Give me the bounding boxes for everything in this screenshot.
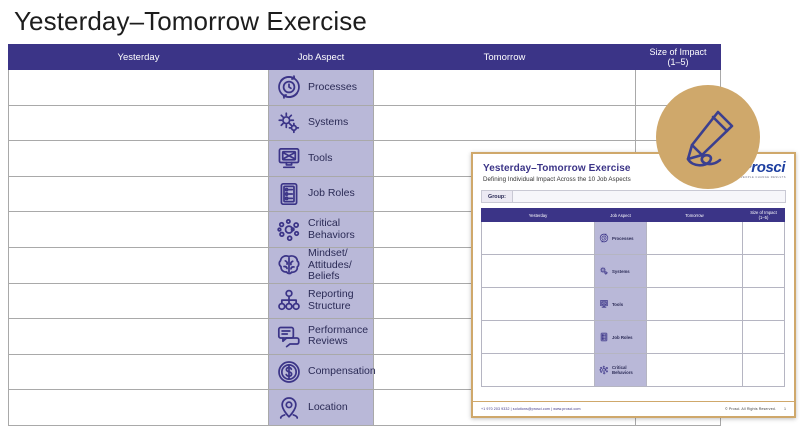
table-row: Processes — [9, 70, 721, 106]
inset-job-aspect-label: Job Roles — [612, 335, 633, 340]
inset-cell-tomorrow[interactable] — [647, 288, 743, 321]
size-of-impact-sublabel: (1–5) — [667, 57, 688, 67]
systems-icon — [276, 110, 302, 136]
table-row: Systems — [9, 105, 721, 141]
inset-table-row: Systems — [482, 255, 785, 288]
cell-job-aspect: Location — [269, 390, 374, 426]
inset-job-aspect-label: Processes — [612, 236, 634, 241]
inset-cell-yesterday[interactable] — [482, 354, 595, 387]
footer-page-number: 1 — [784, 407, 786, 411]
size-of-impact-label: Size of Impact — [649, 47, 706, 57]
inset-cell-yesterday[interactable] — [482, 255, 595, 288]
inset-table-row: Tools — [482, 288, 785, 321]
inset-cell-tomorrow[interactable] — [647, 354, 743, 387]
inset-footer: +1 970 203 9332 | solutions@prosci.com |… — [473, 401, 794, 416]
footer-right: © Prosci. All Rights Reserved. 1 — [725, 407, 786, 411]
cell-yesterday[interactable] — [9, 70, 269, 106]
page-title: Yesterday–Tomorrow Exercise — [14, 6, 367, 37]
performance-reviews-icon — [276, 323, 302, 349]
compensation-icon — [276, 359, 302, 385]
footer-copyright: © Prosci. All Rights Reserved. — [725, 407, 776, 411]
tools-icon — [276, 145, 302, 171]
job-aspect-label: Processes — [308, 82, 357, 94]
inset-job-aspect-label: Tools — [612, 302, 623, 307]
inset-column-header-job-aspect: Job Aspect — [595, 209, 647, 222]
cell-yesterday[interactable] — [9, 176, 269, 212]
systems-icon — [599, 266, 609, 276]
column-header-size-of-impact: Size of Impact (1–5) — [636, 45, 721, 70]
inset-cell-tomorrow[interactable] — [647, 321, 743, 354]
group-input[interactable] — [513, 191, 785, 202]
inset-column-header-yesterday: Yesterday — [482, 209, 595, 222]
slide: Yesterday–Tomorrow Exercise Yesterday Jo… — [0, 0, 800, 435]
reporting-structure-icon — [276, 288, 302, 314]
job-aspect-label: PerformanceReviews — [308, 325, 368, 348]
processes-icon — [599, 233, 609, 243]
inset-cell-job-aspect: Job Roles — [595, 321, 647, 354]
location-icon — [276, 395, 302, 421]
inset-cell-size-of-impact[interactable] — [743, 222, 785, 255]
inset-cell-yesterday[interactable] — [482, 321, 595, 354]
group-field[interactable]: Group: — [481, 190, 786, 203]
inset-table-row: Job Roles — [482, 321, 785, 354]
job-roles-icon — [599, 332, 609, 342]
inset-cell-job-aspect: Tools — [595, 288, 647, 321]
inset-job-aspect-label: CriticalBehaviors — [612, 365, 633, 375]
column-header-tomorrow: Tomorrow — [374, 45, 636, 70]
tools-icon — [599, 299, 609, 309]
cell-job-aspect: Job Roles — [269, 176, 374, 212]
inset-cell-yesterday[interactable] — [482, 222, 595, 255]
pencil-icon — [672, 101, 744, 173]
cell-yesterday[interactable] — [9, 390, 269, 426]
cell-yesterday[interactable] — [9, 247, 269, 283]
critical-behaviors-icon — [276, 217, 302, 243]
critical-behaviors-icon — [599, 365, 609, 375]
group-label: Group: — [482, 191, 513, 202]
table-header-row: Yesterday Job Aspect Tomorrow Size of Im… — [9, 45, 721, 70]
cell-yesterday[interactable] — [9, 212, 269, 248]
pencil-badge — [656, 85, 760, 189]
job-aspect-label: Compensation — [308, 366, 376, 378]
cell-yesterday[interactable] — [9, 105, 269, 141]
cell-job-aspect: PerformanceReviews — [269, 319, 374, 355]
cell-tomorrow[interactable] — [374, 105, 636, 141]
column-header-yesterday: Yesterday — [9, 45, 269, 70]
inset-cell-job-aspect: Processes — [595, 222, 647, 255]
inset-cell-size-of-impact[interactable] — [743, 354, 785, 387]
cell-yesterday[interactable] — [9, 283, 269, 319]
cell-job-aspect: Systems — [269, 105, 374, 141]
cell-job-aspect: Compensation — [269, 354, 374, 390]
inset-table: Yesterday Job Aspect Tomorrow Size of Im… — [481, 208, 785, 387]
inset-job-aspect-label: Systems — [612, 269, 630, 274]
inset-cell-size-of-impact[interactable] — [743, 288, 785, 321]
job-aspect-label: Tools — [308, 153, 333, 165]
cell-yesterday[interactable] — [9, 319, 269, 355]
cell-tomorrow[interactable] — [374, 70, 636, 106]
inset-cell-job-aspect: CriticalBehaviors — [595, 354, 647, 387]
cell-job-aspect: CriticalBehaviors — [269, 212, 374, 248]
inset-header-row: Yesterday Job Aspect Tomorrow Size of Im… — [482, 209, 785, 222]
inset-column-header-size-of-impact: Size of Impact (1–5) — [743, 209, 785, 222]
inset-cell-job-aspect: Systems — [595, 255, 647, 288]
inset-table-body: ProcessesSystemsToolsJob RolesCriticalBe… — [482, 222, 785, 387]
inset-cell-yesterday[interactable] — [482, 288, 595, 321]
job-aspect-label: Location — [308, 402, 348, 414]
cell-job-aspect: Tools — [269, 141, 374, 177]
footer-contact: +1 970 203 9332 | solutions@prosci.com |… — [481, 407, 581, 411]
job-aspect-label: ReportingStructure — [308, 289, 354, 312]
mindset-icon — [276, 252, 302, 278]
job-aspect-label: Systems — [308, 117, 348, 129]
inset-cell-tomorrow[interactable] — [647, 222, 743, 255]
inset-column-header-tomorrow: Tomorrow — [647, 209, 743, 222]
processes-icon — [276, 74, 302, 100]
cell-yesterday[interactable] — [9, 354, 269, 390]
job-aspect-label: Job Roles — [308, 188, 355, 200]
inset-table-row: Processes — [482, 222, 785, 255]
cell-job-aspect: Mindset/Attitudes/Beliefs — [269, 247, 374, 283]
inset-cell-size-of-impact[interactable] — [743, 255, 785, 288]
inset-size-sublabel: (1–5) — [759, 215, 769, 220]
inset-handout-card[interactable]: Yesterday–Tomorrow Exercise Defining Ind… — [471, 152, 796, 418]
cell-yesterday[interactable] — [9, 141, 269, 177]
cell-job-aspect: Processes — [269, 70, 374, 106]
column-header-job-aspect: Job Aspect — [269, 45, 374, 70]
inset-table-row: CriticalBehaviors — [482, 354, 785, 387]
inset-cell-tomorrow[interactable] — [647, 255, 743, 288]
cell-job-aspect: ReportingStructure — [269, 283, 374, 319]
job-roles-icon — [276, 181, 302, 207]
inset-cell-size-of-impact[interactable] — [743, 321, 785, 354]
prosci-tagline: PEOPLE CHANGE RESULTS — [741, 176, 786, 179]
job-aspect-label: CriticalBehaviors — [308, 218, 355, 241]
job-aspect-label: Mindset/Attitudes/Beliefs — [308, 248, 352, 283]
